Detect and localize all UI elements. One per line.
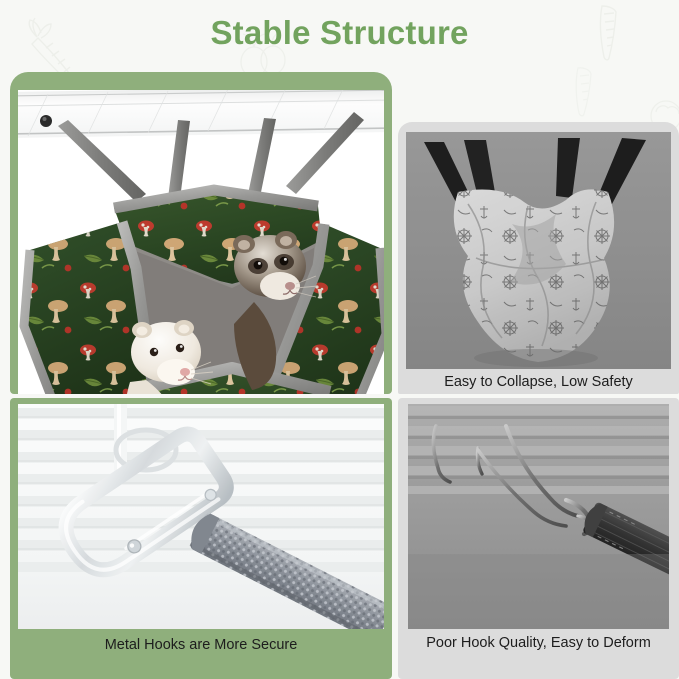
page-title: Stable Structure [0, 14, 679, 52]
panel-metal-hooks: Metal Hooks are More Secure [10, 398, 392, 679]
photo-hexagonal-hammock [18, 90, 384, 394]
caption-poor-hook-quality: Poor Hook Quality, Easy to Deform [398, 635, 679, 651]
photo-metal-carabiner [18, 404, 384, 629]
carrot-watermark [566, 62, 606, 120]
deformed-hooks-illustration [408, 404, 669, 629]
infographic-page: Stable Structure [0, 0, 679, 679]
panel-hexagonal-design: Hexagonal Design, Not Easy to Collapse [10, 72, 392, 394]
panel-easy-to-collapse: Easy to Collapse, Low Safety [398, 122, 679, 394]
carabiner-illustration [18, 404, 384, 629]
panel-poor-hook-quality: Poor Hook Quality, Easy to Deform [398, 398, 679, 679]
hexagonal-hammock-illustration [18, 90, 384, 394]
caption-easy-to-collapse: Easy to Collapse, Low Safety [398, 374, 679, 390]
photo-collapsed-hammock [406, 132, 671, 369]
collapsed-hammock-illustration [406, 132, 671, 369]
photo-deformed-hooks [408, 404, 669, 629]
caption-metal-hooks: Metal Hooks are More Secure [10, 637, 392, 653]
